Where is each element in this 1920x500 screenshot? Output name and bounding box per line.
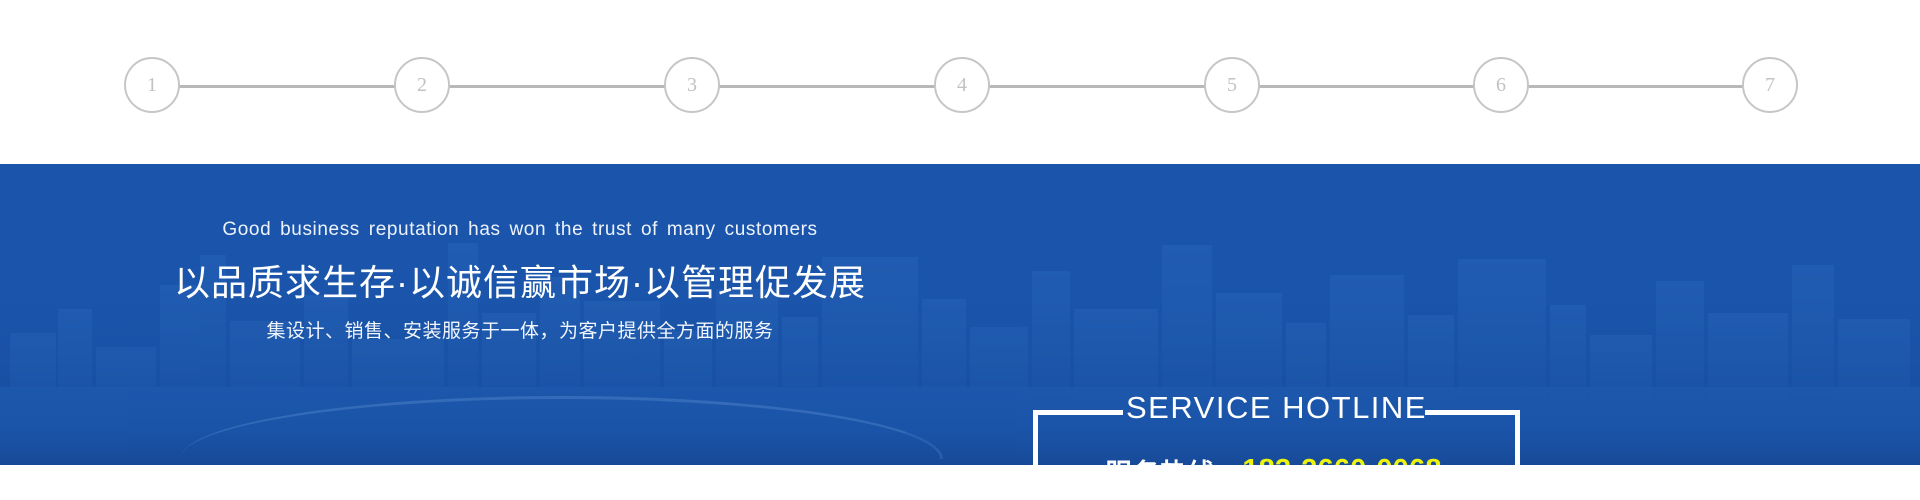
step-node-label: 7 — [1765, 75, 1775, 95]
step-node-1[interactable]: 1 — [124, 57, 180, 113]
step-node-7[interactable]: 7 — [1742, 57, 1798, 113]
step-connector-3-4 — [692, 85, 962, 88]
step-node-label: 1 — [147, 75, 157, 95]
step-connector-1-2 — [152, 85, 422, 88]
step-node-6[interactable]: 6 — [1473, 57, 1529, 113]
step-node-5[interactable]: 5 — [1204, 57, 1260, 113]
hotline-number-list: 183-2660-0068 0551-63749777 — [1242, 450, 1448, 465]
promo-banner: Good business reputation has won the tru… — [0, 164, 1920, 465]
step-connector-2-3 — [422, 85, 692, 88]
step-node-2[interactable]: 2 — [394, 57, 450, 113]
hotline-title: SERVICE HOTLINE — [1033, 390, 1520, 426]
step-node-label: 2 — [417, 75, 427, 95]
step-connector-4-5 — [962, 85, 1232, 88]
step-node-label: 6 — [1496, 75, 1506, 95]
page-root: 1 2 3 4 5 6 7 — [0, 0, 1920, 500]
hotline-number-primary[interactable]: 183-2660-0068 — [1242, 450, 1441, 465]
step-connector-6-7 — [1501, 85, 1770, 88]
step-node-label: 5 — [1227, 75, 1237, 95]
step-node-label: 4 — [957, 75, 967, 95]
hotline-label: 服务热线： — [1105, 450, 1243, 465]
step-node-label: 3 — [687, 75, 697, 95]
service-hotline-box: SERVICE HOTLINE 服务热线： 183-2660-0068 0551… — [1033, 410, 1520, 465]
slogan-chinese-main: 以品质求生存·以诚信赢市场·以管理促发展 — [0, 254, 1040, 306]
slogan-english: Good business reputation has won the tru… — [0, 219, 1040, 241]
step-node-4[interactable]: 4 — [934, 57, 990, 113]
step-progress-bar: 1 2 3 4 5 6 7 — [0, 0, 1920, 164]
step-connector-5-6 — [1232, 85, 1501, 88]
hotline-content-row: 服务热线： 183-2660-0068 0551-63749777 — [1033, 450, 1520, 465]
step-node-3[interactable]: 3 — [664, 57, 720, 113]
slogan-chinese-sub: 集设计、销售、安装服务于一体，为客户提供全方面的服务 — [0, 316, 1040, 343]
slogan-block: Good business reputation has won the tru… — [0, 164, 1040, 465]
